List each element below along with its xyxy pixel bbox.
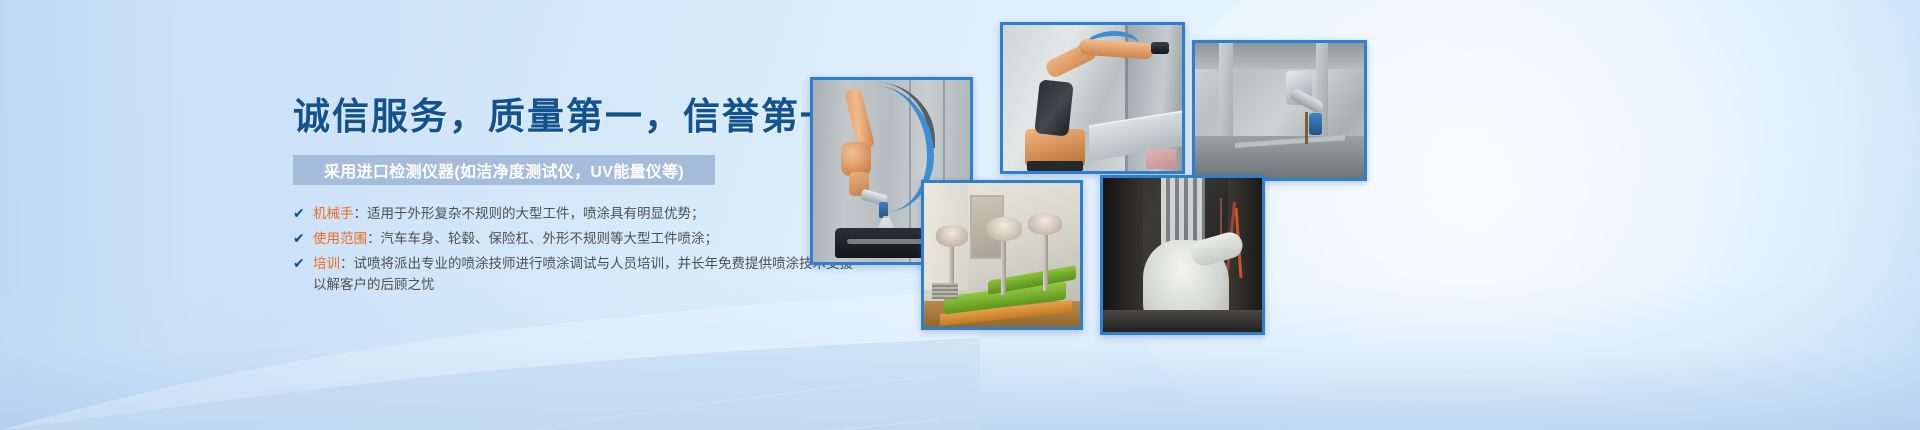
list-item-text: 汽车车身、轮毂、保险杠、外形不规则等大型工件喷涂； — [381, 231, 719, 246]
list-item-separator: ： — [354, 206, 368, 221]
robot-joint — [841, 142, 871, 176]
photo-content — [1003, 25, 1182, 171]
banner-copy: 诚信服务，质量第一，信誉第一 采用进口检测仪器(如洁净度测试仪，UV能量仪等) … — [293, 96, 853, 311]
photo-worker-in-booth — [1100, 175, 1265, 335]
hanging-wire — [1305, 112, 1308, 144]
list-item-body: 机械手：适用于外形复杂不规则的大型工件，喷涂具有明显优势； — [313, 203, 853, 224]
workpiece-box — [1146, 149, 1176, 169]
photo-content — [1103, 178, 1262, 332]
promo-banner: 诚信服务，质量第一，信誉第一 采用进口检测仪器(如洁净度测试仪，UV能量仪等) … — [0, 0, 1920, 430]
booth-floor — [1103, 310, 1262, 332]
wheel-hub — [1028, 213, 1062, 235]
spray-head — [1309, 113, 1322, 135]
list-item-body: 培训：试喷将派出专业的喷涂技师进行喷涂调试与人员培训，并长年免费提供喷涂技术支援… — [313, 253, 853, 295]
list-item-label: 机械手 — [313, 206, 354, 221]
booth-shadow-left — [1103, 178, 1143, 332]
robot-base-plate — [1027, 161, 1083, 171]
hanger-post — [1043, 233, 1048, 291]
wheel-hub — [986, 217, 1022, 241]
list-item-text: 适用于外形复杂不规则的大型工件，喷涂具有明显优势； — [367, 206, 705, 221]
list-item: ✔ 机械手：适用于外形复杂不规则的大型工件，喷涂具有明显优势； — [293, 203, 853, 224]
wheel-hub — [936, 225, 968, 247]
subtitle-bar: 采用进口检测仪器(如洁净度测试仪，UV能量仪等) — [293, 155, 715, 185]
floor-vent — [932, 283, 958, 299]
photo-content — [924, 183, 1080, 327]
photo-wheel-hub-line — [921, 180, 1083, 330]
list-item-label: 培训 — [313, 256, 340, 271]
robot-tool — [1151, 42, 1169, 54]
list-item-continuation: 以解客户的后顾之忧 — [313, 274, 853, 295]
subtitle-text: 采用进口检测仪器(如洁净度测试仪，UV能量仪等) — [324, 158, 684, 182]
check-icon: ✔ — [293, 228, 307, 249]
photo-spray-booth-equipment — [1192, 40, 1367, 181]
check-icon: ✔ — [293, 253, 307, 274]
list-item: ✔ 使用范围：汽车车身、轮毂、保险杠、外形不规则等大型工件喷涂； — [293, 228, 853, 249]
workpiece-highlight — [847, 239, 931, 244]
photo-content — [1195, 43, 1364, 178]
robot-body — [1034, 79, 1073, 136]
hanger-post — [1001, 239, 1006, 295]
list-item-label: 使用范围 — [313, 231, 367, 246]
photo-abb-robot-conveyor — [1000, 22, 1185, 174]
check-icon: ✔ — [293, 203, 307, 224]
list-item-body: 使用范围：汽车车身、轮毂、保险杠、外形不规则等大型工件喷涂； — [313, 228, 853, 249]
list-item-text: 试喷将派出专业的喷涂技师进行喷涂调试与人员培训，并长年免费提供喷涂技术支援 — [354, 256, 854, 271]
feature-list: ✔ 机械手：适用于外形复杂不规则的大型工件，喷涂具有明显优势； ✔ 使用范围：汽… — [293, 203, 853, 295]
list-item-separator: ： — [367, 231, 381, 246]
headline: 诚信服务，质量第一，信誉第一 — [293, 96, 853, 139]
list-item-separator: ： — [340, 256, 354, 271]
spray-gun-tip — [879, 202, 888, 218]
list-item: ✔ 培训：试喷将派出专业的喷涂技师进行喷涂调试与人员培训，并长年免费提供喷涂技术… — [293, 253, 853, 295]
